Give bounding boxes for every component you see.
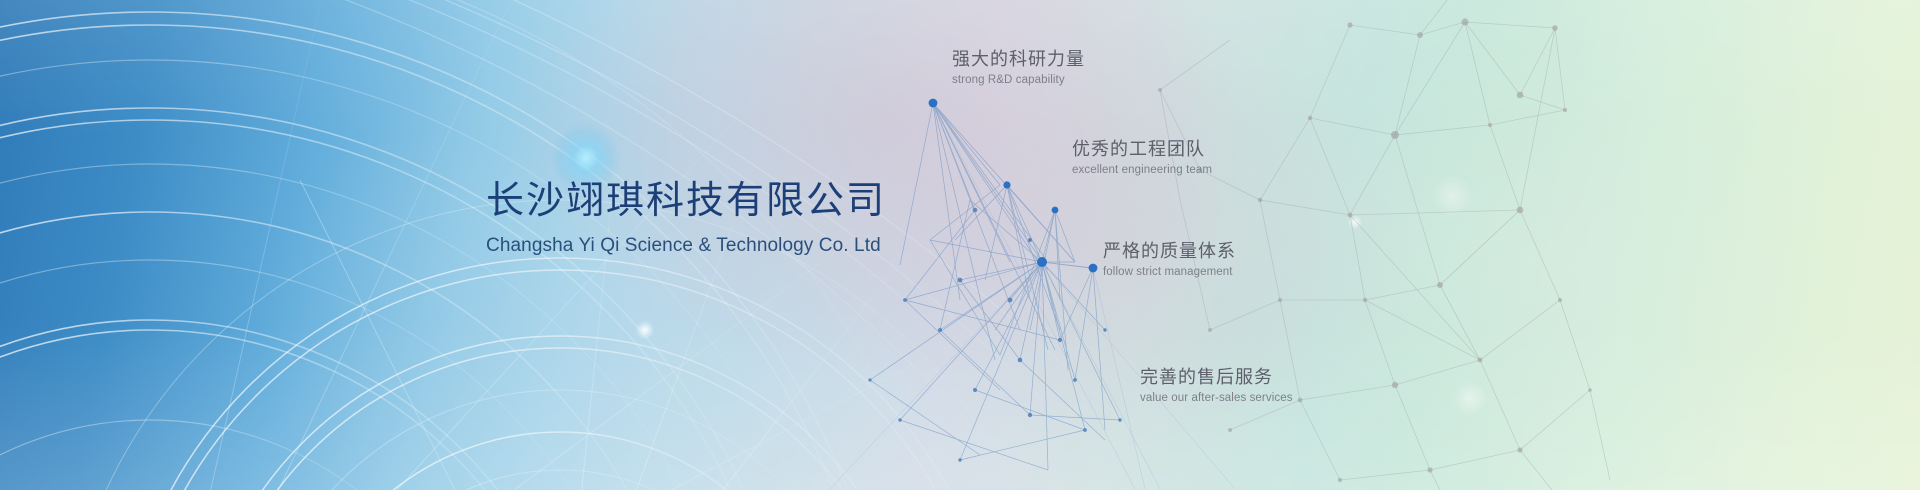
feature-label-cn: 优秀的工程团队 [1072, 138, 1212, 161]
feature-callout-rd: 强大的科研力量 strong R&D capability [952, 48, 1085, 87]
feature-callout-team: 优秀的工程团队 excellent engineering team [1072, 138, 1212, 177]
feature-label-en: strong R&D capability [952, 74, 1085, 88]
feature-label-en: follow strict management [1103, 266, 1236, 280]
company-name-cn: 长沙翊琪科技有限公司 [486, 178, 1126, 225]
feature-label-en: value our after-sales services [1140, 392, 1293, 406]
feature-callout-service: 完善的售后服务 value our after-sales services [1140, 366, 1293, 405]
company-title-block: 长沙翊琪科技有限公司 Changsha Yi Qi Science & Tech… [486, 178, 1126, 257]
feature-callout-quality: 严格的质量体系 follow strict management [1103, 240, 1236, 279]
company-name-en: Changsha Yi Qi Science & Technology Co. … [486, 235, 1126, 257]
feature-label-en: excellent engineering team [1072, 164, 1212, 178]
feature-label-cn: 强大的科研力量 [952, 48, 1085, 71]
feature-label-cn: 完善的售后服务 [1140, 366, 1293, 389]
hero-banner: 长沙翊琪科技有限公司 Changsha Yi Qi Science & Tech… [0, 0, 1920, 490]
feature-label-cn: 严格的质量体系 [1103, 240, 1236, 263]
